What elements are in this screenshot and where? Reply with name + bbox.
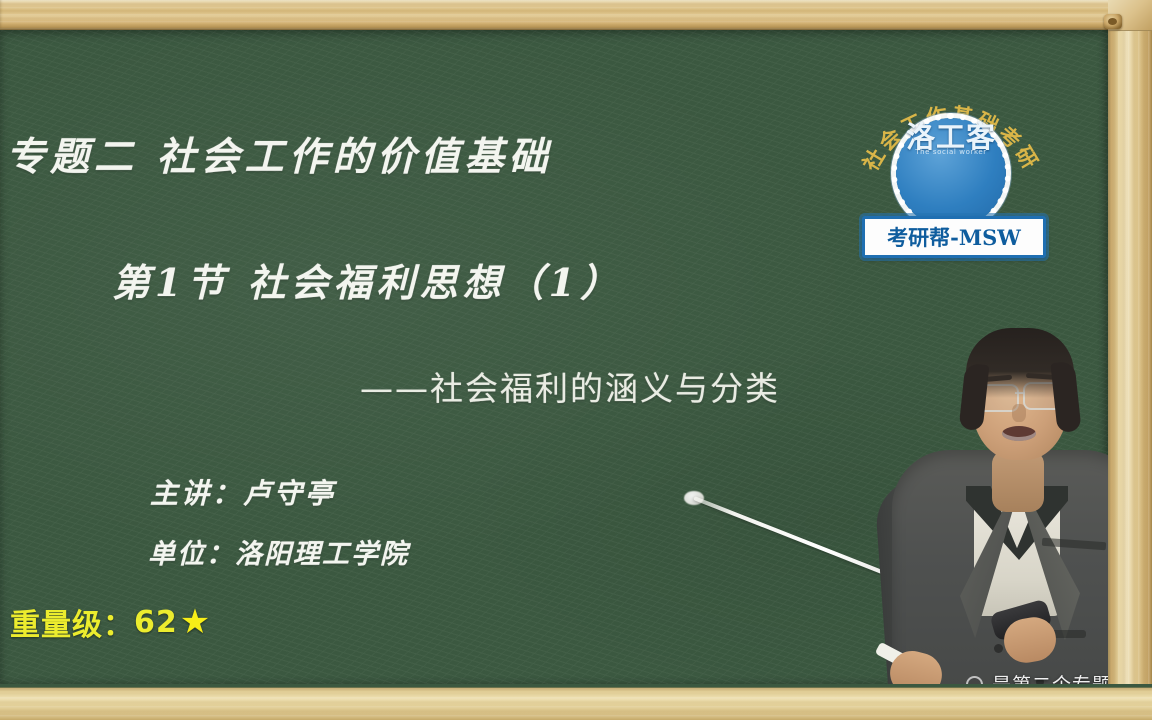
section-heading: 第1节 社会福利思想（1） xyxy=(112,252,623,307)
channel-logo: 社会工作基础考研 洛工客 The social worker 考研帮-MSW xyxy=(856,88,1046,263)
logo-banner: 考研帮-MSW xyxy=(862,216,1046,258)
speaker-line: 主讲：卢守亭 xyxy=(150,472,336,512)
frame-screw-icon xyxy=(1104,14,1122,29)
frame-bottom xyxy=(0,684,1152,720)
jacket-button-upper xyxy=(994,644,1003,653)
lecturer-nose xyxy=(1012,404,1026,422)
star-icon: ★ xyxy=(180,605,211,639)
logo-disc-sub-text: The social worker xyxy=(856,148,1046,156)
topic-heading: 专题二 社会工作的价值基础 xyxy=(6,126,553,182)
weight-badge-label: 重量级： xyxy=(10,600,134,644)
frame-right xyxy=(1108,0,1152,720)
lecturer-mouth xyxy=(1002,426,1036,441)
logo-banner-text: 考研帮-MSW xyxy=(887,222,1021,252)
frame-top xyxy=(0,0,1152,30)
unit-line: 单位：洛阳理工学院 xyxy=(148,532,409,571)
video-frame: 专题二 社会工作的价值基础 第1节 社会福利思想（1） ——社会福利的涵义与分类… xyxy=(0,0,1152,720)
weight-badge-value: 62 xyxy=(134,605,178,640)
weight-badge: 重量级： 62 ★ xyxy=(10,600,211,644)
subtitle-line: ——社会福利的涵义与分类 xyxy=(360,362,780,410)
lecturer-hair xyxy=(966,328,1074,398)
